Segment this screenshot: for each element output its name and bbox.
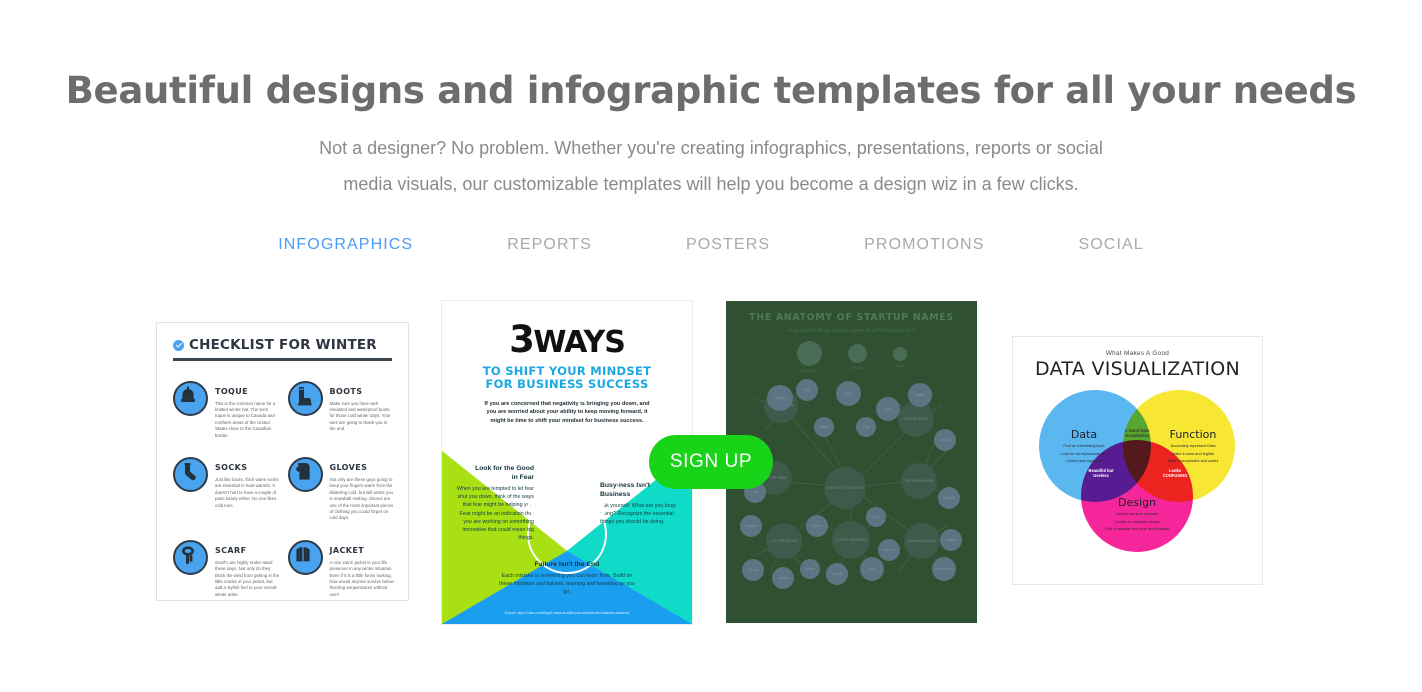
hub-node: DOMAIN BASED — [904, 523, 940, 559]
venn-bullet: Sketch out your process — [1097, 511, 1177, 517]
brand-node: Scribd — [806, 515, 828, 537]
list-item: BOOTS Make sure you have well insulated … — [288, 381, 395, 439]
overlap-line-2: Visualization — [1108, 433, 1166, 438]
venn-overlap-data-design: Beautiful but Useless — [1075, 468, 1127, 479]
list-item-desc: Not only are these guys going to keep yo… — [330, 477, 395, 522]
brand-node: Leaf.fyi — [878, 539, 900, 561]
venn-overlap-center: A Good Data Visualization — [1108, 428, 1166, 439]
list-item: GLOVES Not only are these guys going to … — [288, 457, 395, 522]
venn-bullet: Make it purposeful and useful — [1155, 458, 1231, 464]
sign-up-button[interactable]: SIGN UP — [649, 435, 773, 489]
brand-node: BAE — [796, 379, 818, 401]
brand-node: Engine — [938, 487, 960, 509]
checklist-header: CHECKLIST FOR WINTER — [173, 337, 394, 353]
list-item-desc: This is the common name for a knitted wi… — [215, 401, 280, 439]
venn-diagram: Data Find an interesting topic Look for … — [1013, 384, 1262, 552]
list-item-desc: Make sure you have well insulated and wa… — [330, 401, 395, 433]
list-item-label: JACKET — [330, 546, 365, 555]
venn-name-design: Design — [1097, 496, 1177, 509]
headline: 3WAYS — [442, 321, 692, 362]
list-item-label: SOCKS — [215, 463, 247, 472]
brand-node: Slack — [814, 417, 834, 437]
mitten-icon — [288, 457, 323, 492]
segment-title-1a: Look for the Good — [452, 464, 534, 473]
jacket-icon — [288, 540, 323, 575]
brand-node: flickr — [866, 507, 886, 527]
overlap-line-2: Useless — [1075, 473, 1127, 478]
venn-bullet: Create an impactful visual — [1097, 519, 1177, 525]
headline-number: 3 — [509, 318, 533, 361]
venn-bullet: Accurately represent Data — [1155, 443, 1231, 449]
three-ways-heading: 3WAYS TO SHIFT YOUR MINDSET FOR BUSINESS… — [442, 301, 692, 425]
brand-node: CADDIE — [934, 429, 956, 451]
brand-node: Boxed — [742, 559, 764, 581]
brand-node: foundr — [826, 563, 848, 585]
beanie-hat-icon — [173, 381, 208, 416]
hub-node: LETTER DROPPED — [832, 521, 870, 559]
venn-overlap-function-design: Looks CONFUSING — [1149, 468, 1201, 479]
list-item-desc: Just like boots, thick warm socks are es… — [215, 477, 280, 509]
venn-bullet: Find an interesting topic — [1047, 443, 1121, 449]
segment-number-1: 1 — [525, 500, 540, 525]
subhead: TO SHIFT YOUR MINDSET FOR BUSINESS SUCCE… — [442, 365, 692, 391]
checklist-title: CHECKLIST FOR WINTER — [189, 337, 377, 353]
list-item: SOCKS Just like boots, thick warm socks … — [173, 457, 280, 522]
hub-node: RELATED WORD — [901, 463, 937, 499]
list-item-desc: A nice warm jacket is your life preserve… — [330, 560, 395, 598]
list-item-desc: Scarf's are highly under-rated these day… — [215, 560, 280, 598]
subhead-line-2: FOR BUSINESS SUCCESS — [442, 378, 692, 391]
intro-paragraph: If you are concerned that negativity is … — [480, 400, 654, 425]
template-card-checklist[interactable]: CHECKLIST FOR WINTER TOQUE This is the c… — [156, 322, 409, 601]
list-item-label: SCARF — [215, 546, 246, 555]
brand-node: GIPHY — [836, 381, 861, 406]
winter-boot-icon — [288, 381, 323, 416]
list-item-label: BOOTS — [330, 387, 363, 396]
venn-label-function: Function Accurately represent Data Make … — [1155, 428, 1231, 464]
brand-node: Jet — [876, 397, 900, 421]
segment-title-1b: in Fear — [452, 473, 534, 482]
list-item-label: TOQUE — [215, 387, 248, 396]
dataviz-kicker: What Makes A Good — [1013, 350, 1262, 357]
brand-node: Etsy — [856, 417, 876, 437]
segment-body-3: Ask yourself: What are you busy doing? R… — [600, 502, 684, 527]
headline-word: WAYS — [533, 325, 624, 360]
segment-body-1: When you are tempted to let fear shut yo… — [452, 485, 534, 542]
hub-node: LETTER ADDED — [766, 523, 802, 559]
venn-label-design: Design Sketch out your process Create an… — [1097, 496, 1177, 532]
list-item: JACKET A nice warm jacket is your life p… — [288, 540, 395, 598]
segment-title-2a: Failure Isn't the End — [498, 560, 636, 569]
dataviz-title: DATA VISUALIZATION — [1013, 358, 1262, 380]
checklist-grid: TOQUE This is the common name for a knit… — [173, 381, 394, 599]
segment-number-2: 2 — [561, 525, 576, 550]
brand-node: Shopify — [740, 515, 762, 537]
segment-block-1: Look for the Good in Fear When you are t… — [452, 464, 534, 542]
scarf-icon — [173, 540, 208, 575]
source-note: Source: https://visu.com/blog/3-ways-to-… — [442, 611, 692, 615]
brand-node: Mozilla — [767, 385, 793, 411]
segment-number-3: 3 — [592, 497, 607, 522]
template-card-data-visualization[interactable]: What Makes A Good DATA VISUALIZATION Dat… — [1012, 336, 1263, 585]
venn-bullet: Find a balance with form and function — [1097, 526, 1177, 532]
hub-node: THE BEST STARTUPS — [824, 467, 866, 509]
brand-node: buffer — [908, 383, 932, 407]
list-item: SCARF Scarf's are highly under-rated the… — [173, 540, 280, 598]
segment-block-2: Failure Isn't the End Each mistake is so… — [498, 560, 636, 597]
overlap-line-2: CONFUSING — [1149, 473, 1201, 478]
sock-icon — [173, 457, 208, 492]
brand-node: Stripe — [800, 559, 820, 579]
segment-title-3b: Business — [600, 490, 684, 499]
divider — [173, 358, 392, 361]
list-item-label: GLOVES — [330, 463, 368, 472]
brand-node: Singles — [940, 529, 962, 551]
check-circle-icon — [173, 340, 184, 351]
venn-bullet: Look for an implacable one — [1047, 451, 1121, 457]
page-root: Beautiful designs and infographic templa… — [0, 0, 1422, 692]
venn-name-function: Function — [1155, 428, 1231, 441]
brand-node: Blue Apron — [932, 557, 956, 581]
venn-bullet: Collect and organize — [1047, 458, 1121, 464]
template-gallery: CHECKLIST FOR WINTER TOQUE This is the c… — [0, 0, 1422, 692]
list-item: TOQUE This is the common name for a knit… — [173, 381, 280, 439]
brand-node: trov — [860, 557, 884, 581]
venn-bullet: Make it clear and legible — [1155, 451, 1231, 457]
brand-node: Slides — [772, 567, 794, 589]
segment-body-2: Each mistake is something you can learn … — [498, 572, 636, 597]
